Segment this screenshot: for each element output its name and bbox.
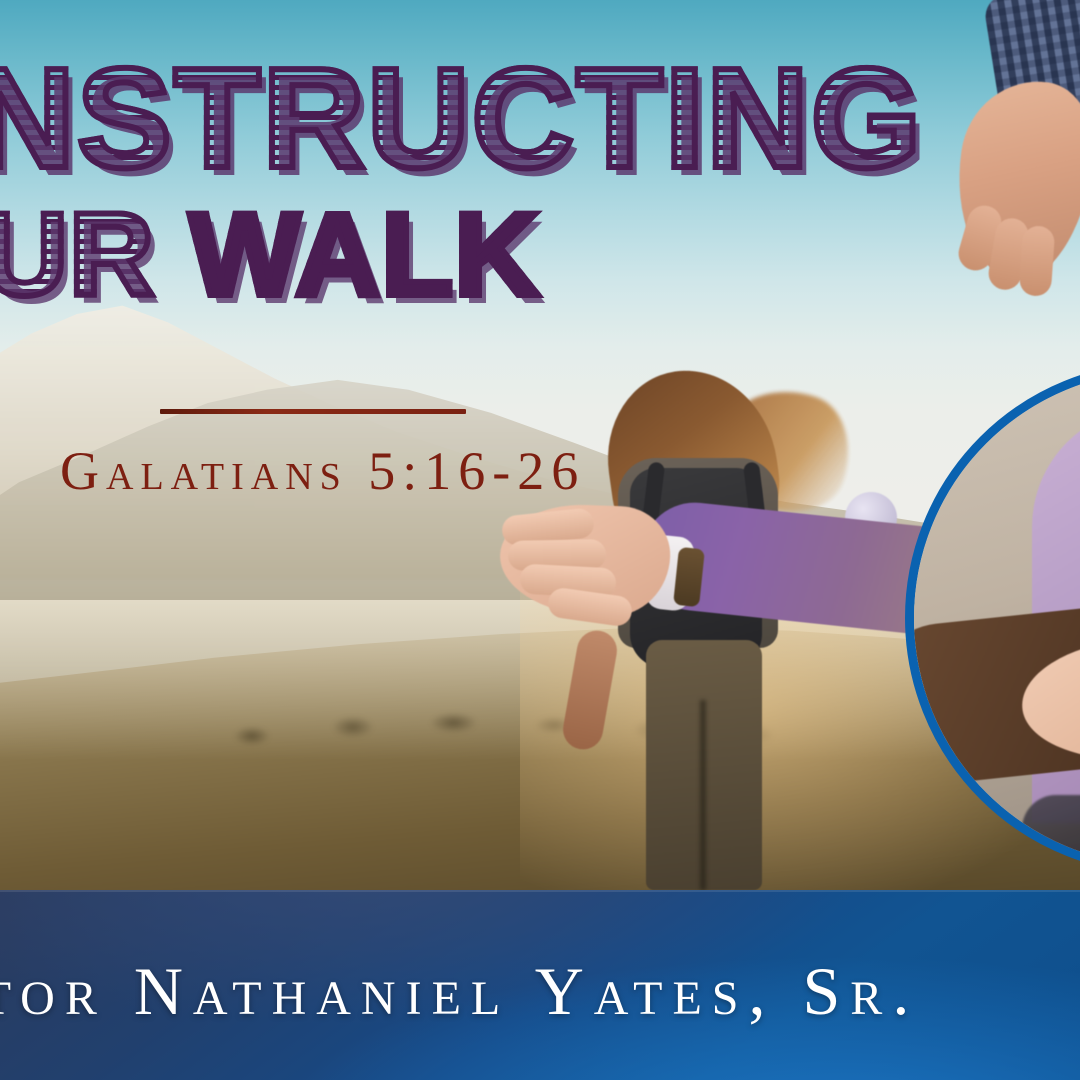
banner-edge <box>0 890 1080 892</box>
hiker-figure <box>560 370 860 890</box>
title-block: ONSTRUCTING OUR WALK <box>0 0 1080 400</box>
arm <box>560 627 620 752</box>
portrait-microphone <box>1022 795 1080 865</box>
leg-separation <box>700 700 706 890</box>
title-line-2: OUR WALK <box>0 196 1050 314</box>
title-word-your: OUR <box>0 189 155 321</box>
sermon-graphic: ONSTRUCTING OUR WALK Galatians 5:16-26 s… <box>0 0 1080 1080</box>
speaker-name: stor Nathaniel Yates, Sr. <box>0 952 919 1031</box>
title-line-1: ONSTRUCTING <box>0 48 1020 190</box>
scripture-reference: Galatians 5:16-26 <box>60 440 585 502</box>
scripture-divider <box>160 409 466 414</box>
speaker-portrait <box>905 362 1080 874</box>
title-word-walk: WALK <box>189 189 540 321</box>
